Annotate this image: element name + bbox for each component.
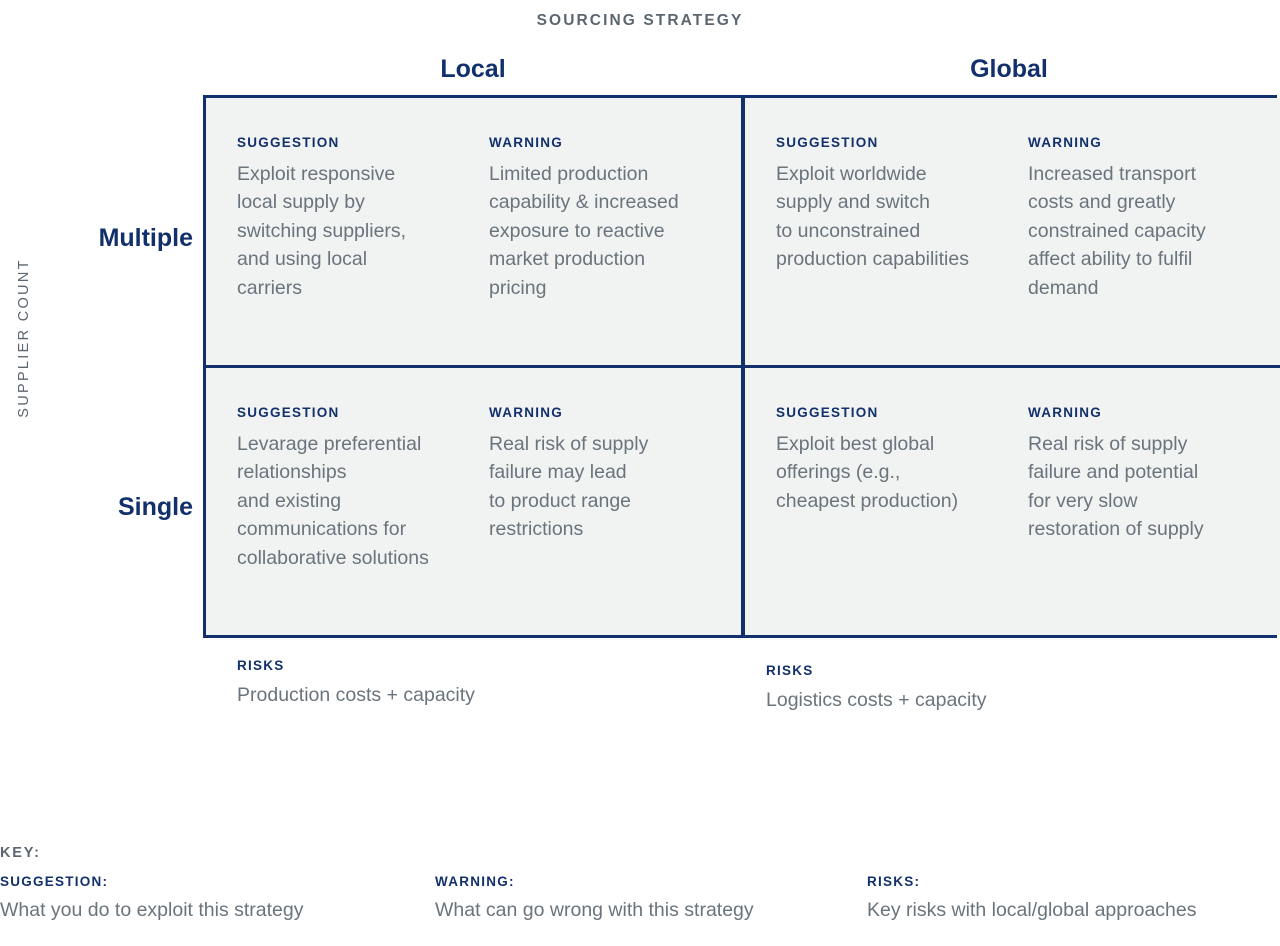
quadrant-single-local[interactable]: SUGGESTION Levarage preferential relatio… [206,368,741,635]
key-item-label: WARNING: [435,874,865,889]
chart-title: SOURCING STRATEGY [0,12,1280,30]
column-header-global: Global [741,55,1277,84]
risks-label: RISKS [237,658,657,673]
suggestion-block: SUGGESTION Exploit responsive local supp… [237,135,489,365]
warning-label: WARNING [489,405,731,420]
warning-block: WARNING Real risk of supply failure and … [1028,405,1280,635]
key-item-label: RISKS: [867,874,1280,889]
warning-text: Increased transport costs and greatly co… [1028,160,1280,302]
warning-label: WARNING [489,135,731,150]
key-item-risks: RISKS: Key risks with local/global appro… [867,874,1280,923]
key-item-label: SUGGESTION: [0,874,430,889]
suggestion-label: SUGGESTION [776,135,1018,150]
risks-label: RISKS [766,663,1186,678]
risks-global: RISKS Logistics costs + capacity [766,663,1186,714]
quadrant-multiple-local[interactable]: SUGGESTION Exploit responsive local supp… [206,98,741,365]
key-item-text: What can go wrong with this strategy [435,897,865,923]
key-title: KEY: [0,845,41,861]
suggestion-block: SUGGESTION Exploit worldwide supply and … [776,135,1028,365]
suggestion-block: SUGGESTION Levarage preferential relatio… [237,405,489,635]
warning-label: WARNING [1028,405,1280,420]
quadrant-multiple-global[interactable]: SUGGESTION Exploit worldwide supply and … [745,98,1280,365]
key-item-text: What you do to exploit this strategy [0,897,430,923]
y-axis-title: SUPPLIER COUNT [16,223,32,453]
warning-block: WARNING Increased transport costs and gr… [1028,135,1280,365]
suggestion-text: Exploit worldwide supply and switch to u… [776,160,1018,274]
warning-text: Real risk of supply failure may lead to … [489,430,731,544]
risks-local: RISKS Production costs + capacity [237,658,657,709]
quadrant-matrix: SUGGESTION Exploit responsive local supp… [203,95,1277,638]
suggestion-text: Exploit responsive local supply by switc… [237,160,479,302]
key-item-warning: WARNING: What can go wrong with this str… [435,874,865,923]
warning-block: WARNING Limited production capability & … [489,135,741,365]
suggestion-label: SUGGESTION [776,405,1018,420]
key-item-suggestion: SUGGESTION: What you do to exploit this … [0,874,430,923]
row-header-single: Single [118,493,193,522]
warning-text: Limited production capability & increase… [489,160,731,302]
risks-text: Production costs + capacity [237,682,657,709]
suggestion-label: SUGGESTION [237,405,479,420]
suggestion-text: Levarage preferential relationships and … [237,430,479,572]
warning-block: WARNING Real risk of supply failure may … [489,405,741,635]
quadrant-single-global[interactable]: SUGGESTION Exploit best global offerings… [745,368,1280,635]
suggestion-text: Exploit best global offerings (e.g., che… [776,430,1018,515]
warning-label: WARNING [1028,135,1280,150]
suggestion-block: SUGGESTION Exploit best global offerings… [776,405,1028,635]
row-header-multiple: Multiple [99,224,193,253]
column-header-local: Local [205,55,741,84]
warning-text: Real risk of supply failure and potentia… [1028,430,1280,544]
risks-text: Logistics costs + capacity [766,687,1186,714]
suggestion-label: SUGGESTION [237,135,479,150]
key-item-text: Key risks with local/global approaches [867,897,1280,923]
